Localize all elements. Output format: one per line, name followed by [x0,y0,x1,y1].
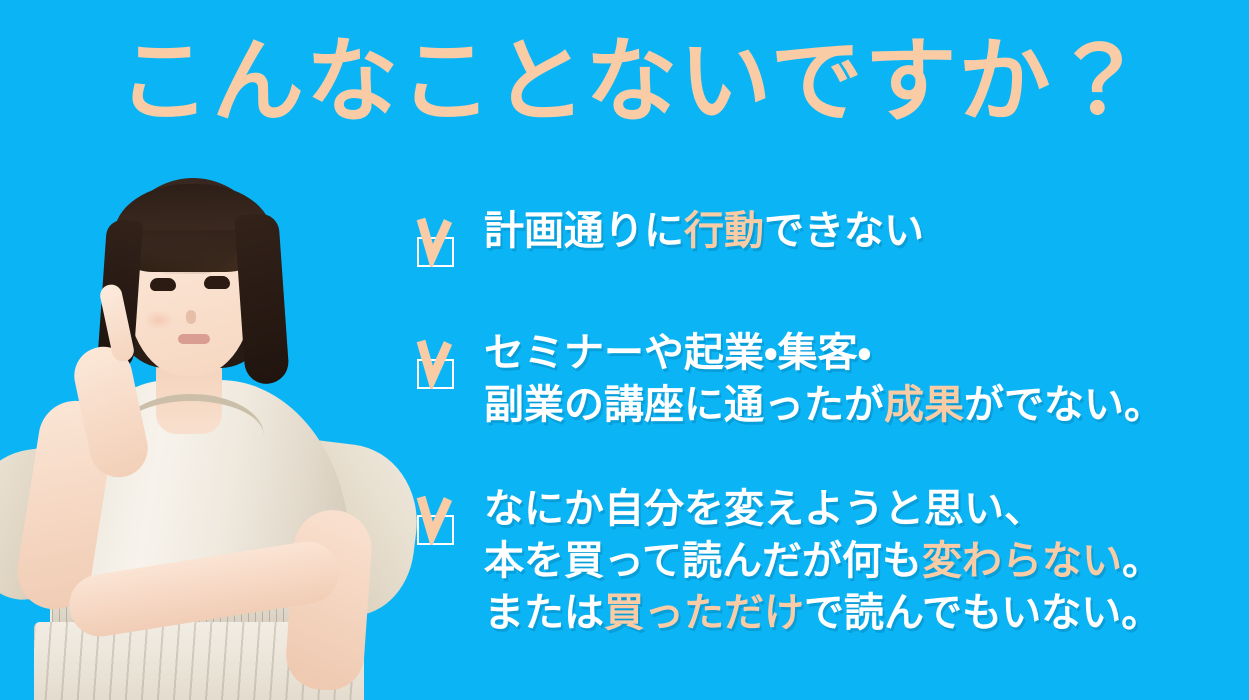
slide-canvas: こんなことないですか？ [0,0,1249,700]
list-item-line: 本を買って読んだが何も変わらない。 [484,535,1162,587]
plain-phrase: できない [764,208,924,254]
plain-phrase: 計画通りに [484,208,684,254]
eye-left [150,278,176,291]
list-item-line: 計画通りに行動できない [484,205,924,257]
list-item-text: なにか自分を変えようと思い、本を買って読んだが何も変わらない。または買っただけで… [484,483,1162,639]
highlighted-phrase: 成果 [884,382,964,428]
plain-phrase: がでない。 [964,382,1164,428]
pain-point-checklist: 計画通りに行動できない セミナーや起業・集客・副業の講座に通ったが成果がでない。… [410,205,1240,639]
list-item-text: 計画通りに行動できない [484,205,924,257]
plain-phrase: セミナーや起業・集客・ [484,330,871,376]
checkbox-check-icon [410,337,456,389]
highlighted-phrase: 行動 [684,208,764,254]
eye-right [204,276,230,289]
highlighted-phrase: 変わらない [922,538,1122,584]
list-item-line: または買っただけで読んでもいない。 [484,587,1162,639]
plain-phrase: 。 [1122,538,1162,584]
list-item: なにか自分を変えようと思い、本を買って読んだが何も変わらない。または買っただけで… [410,483,1240,639]
list-item: セミナーや起業・集客・副業の講座に通ったが成果がでない。 [410,327,1240,431]
plain-phrase: で読んでもいない。 [804,590,1161,636]
plain-phrase: または [484,590,604,636]
page-title: こんなことないですか？ [118,26,1138,138]
list-item-line: セミナーや起業・集客・ [484,327,1164,379]
checkbox-check-icon [410,493,456,545]
nose [186,310,196,324]
highlighted-phrase: 買っただけ [604,590,804,636]
thoughtful-woman-photo [0,150,430,700]
list-item: 計画通りに行動できない [410,205,1240,267]
plain-phrase: 本を買って読んだが何も [484,538,922,584]
checkbox-check-icon [410,215,456,267]
list-item-line: なにか自分を変えようと思い、 [484,483,1162,535]
list-item-text: セミナーや起業・集客・副業の講座に通ったが成果がでない。 [484,327,1164,431]
mouth [178,334,210,344]
plain-phrase: 副業の講座に通ったが [484,382,884,428]
list-item-line: 副業の講座に通ったが成果がでない。 [484,379,1164,431]
plain-phrase: なにか自分を変えようと思い、 [484,486,1044,532]
cheek-shading [144,310,174,330]
